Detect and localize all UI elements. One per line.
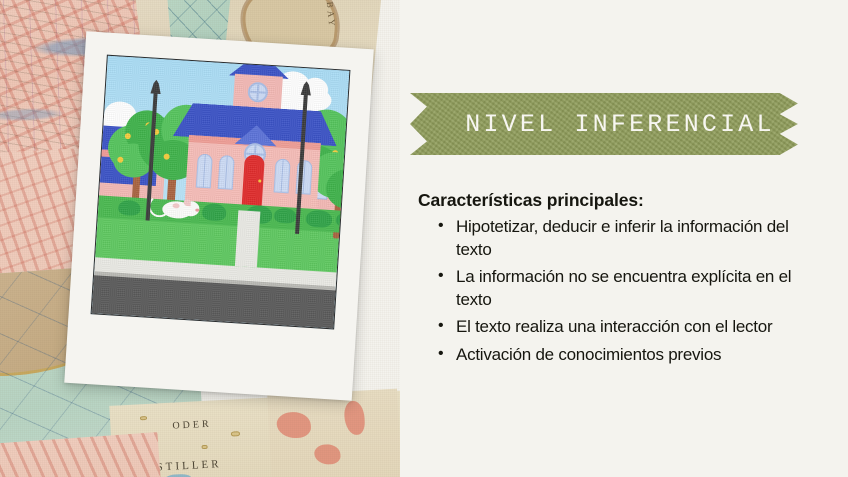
map-landmass: [314, 444, 341, 465]
page-title: NIVEL INFERENCIAL: [449, 110, 774, 139]
map-landmass: [276, 411, 311, 439]
map-label-oder: ODER: [172, 419, 212, 432]
list-item: La información no se encuentra explícita…: [434, 266, 818, 311]
body-text-block: Características principales: Hipotetizar…: [418, 190, 818, 367]
bush: [202, 203, 227, 221]
bullet-list: Hipotetizar, deducir e inferir la inform…: [418, 216, 818, 367]
list-item: Activación de conocimientos previos: [434, 344, 818, 367]
map-pink-islands: [267, 389, 400, 477]
front-walkway: [235, 210, 260, 267]
subheading: Características principales:: [418, 190, 818, 211]
title-ribbon-banner: NIVEL INFERENCIAL: [410, 93, 814, 155]
bush: [336, 212, 351, 227]
map-landmass: [344, 400, 366, 435]
bush: [118, 200, 141, 216]
list-item: Hipotetizar, deducir e inferir la inform…: [434, 216, 818, 261]
photo-illustration: [91, 55, 351, 330]
list-item: El texto realiza una interacción con el …: [434, 316, 818, 339]
slide-canvas: BAY ODER STILLER: [0, 0, 848, 477]
map-island: [231, 431, 240, 436]
front-door: [242, 155, 265, 208]
content-panel: NIVEL INFERENCIAL Características princi…: [400, 0, 848, 477]
round-window: [247, 82, 268, 103]
map-island: [202, 445, 208, 449]
dog-ear: [184, 199, 191, 206]
attic-wall: [233, 74, 283, 111]
map-label-bay: BAY: [325, 1, 338, 29]
map-island: [140, 416, 147, 420]
polaroid-photo-frame: [64, 31, 374, 400]
window: [274, 158, 291, 193]
window: [196, 154, 213, 189]
window: [218, 155, 235, 190]
bush: [306, 209, 333, 228]
dog-nose: [195, 209, 199, 212]
bush: [274, 207, 297, 223]
dog: [160, 197, 201, 221]
